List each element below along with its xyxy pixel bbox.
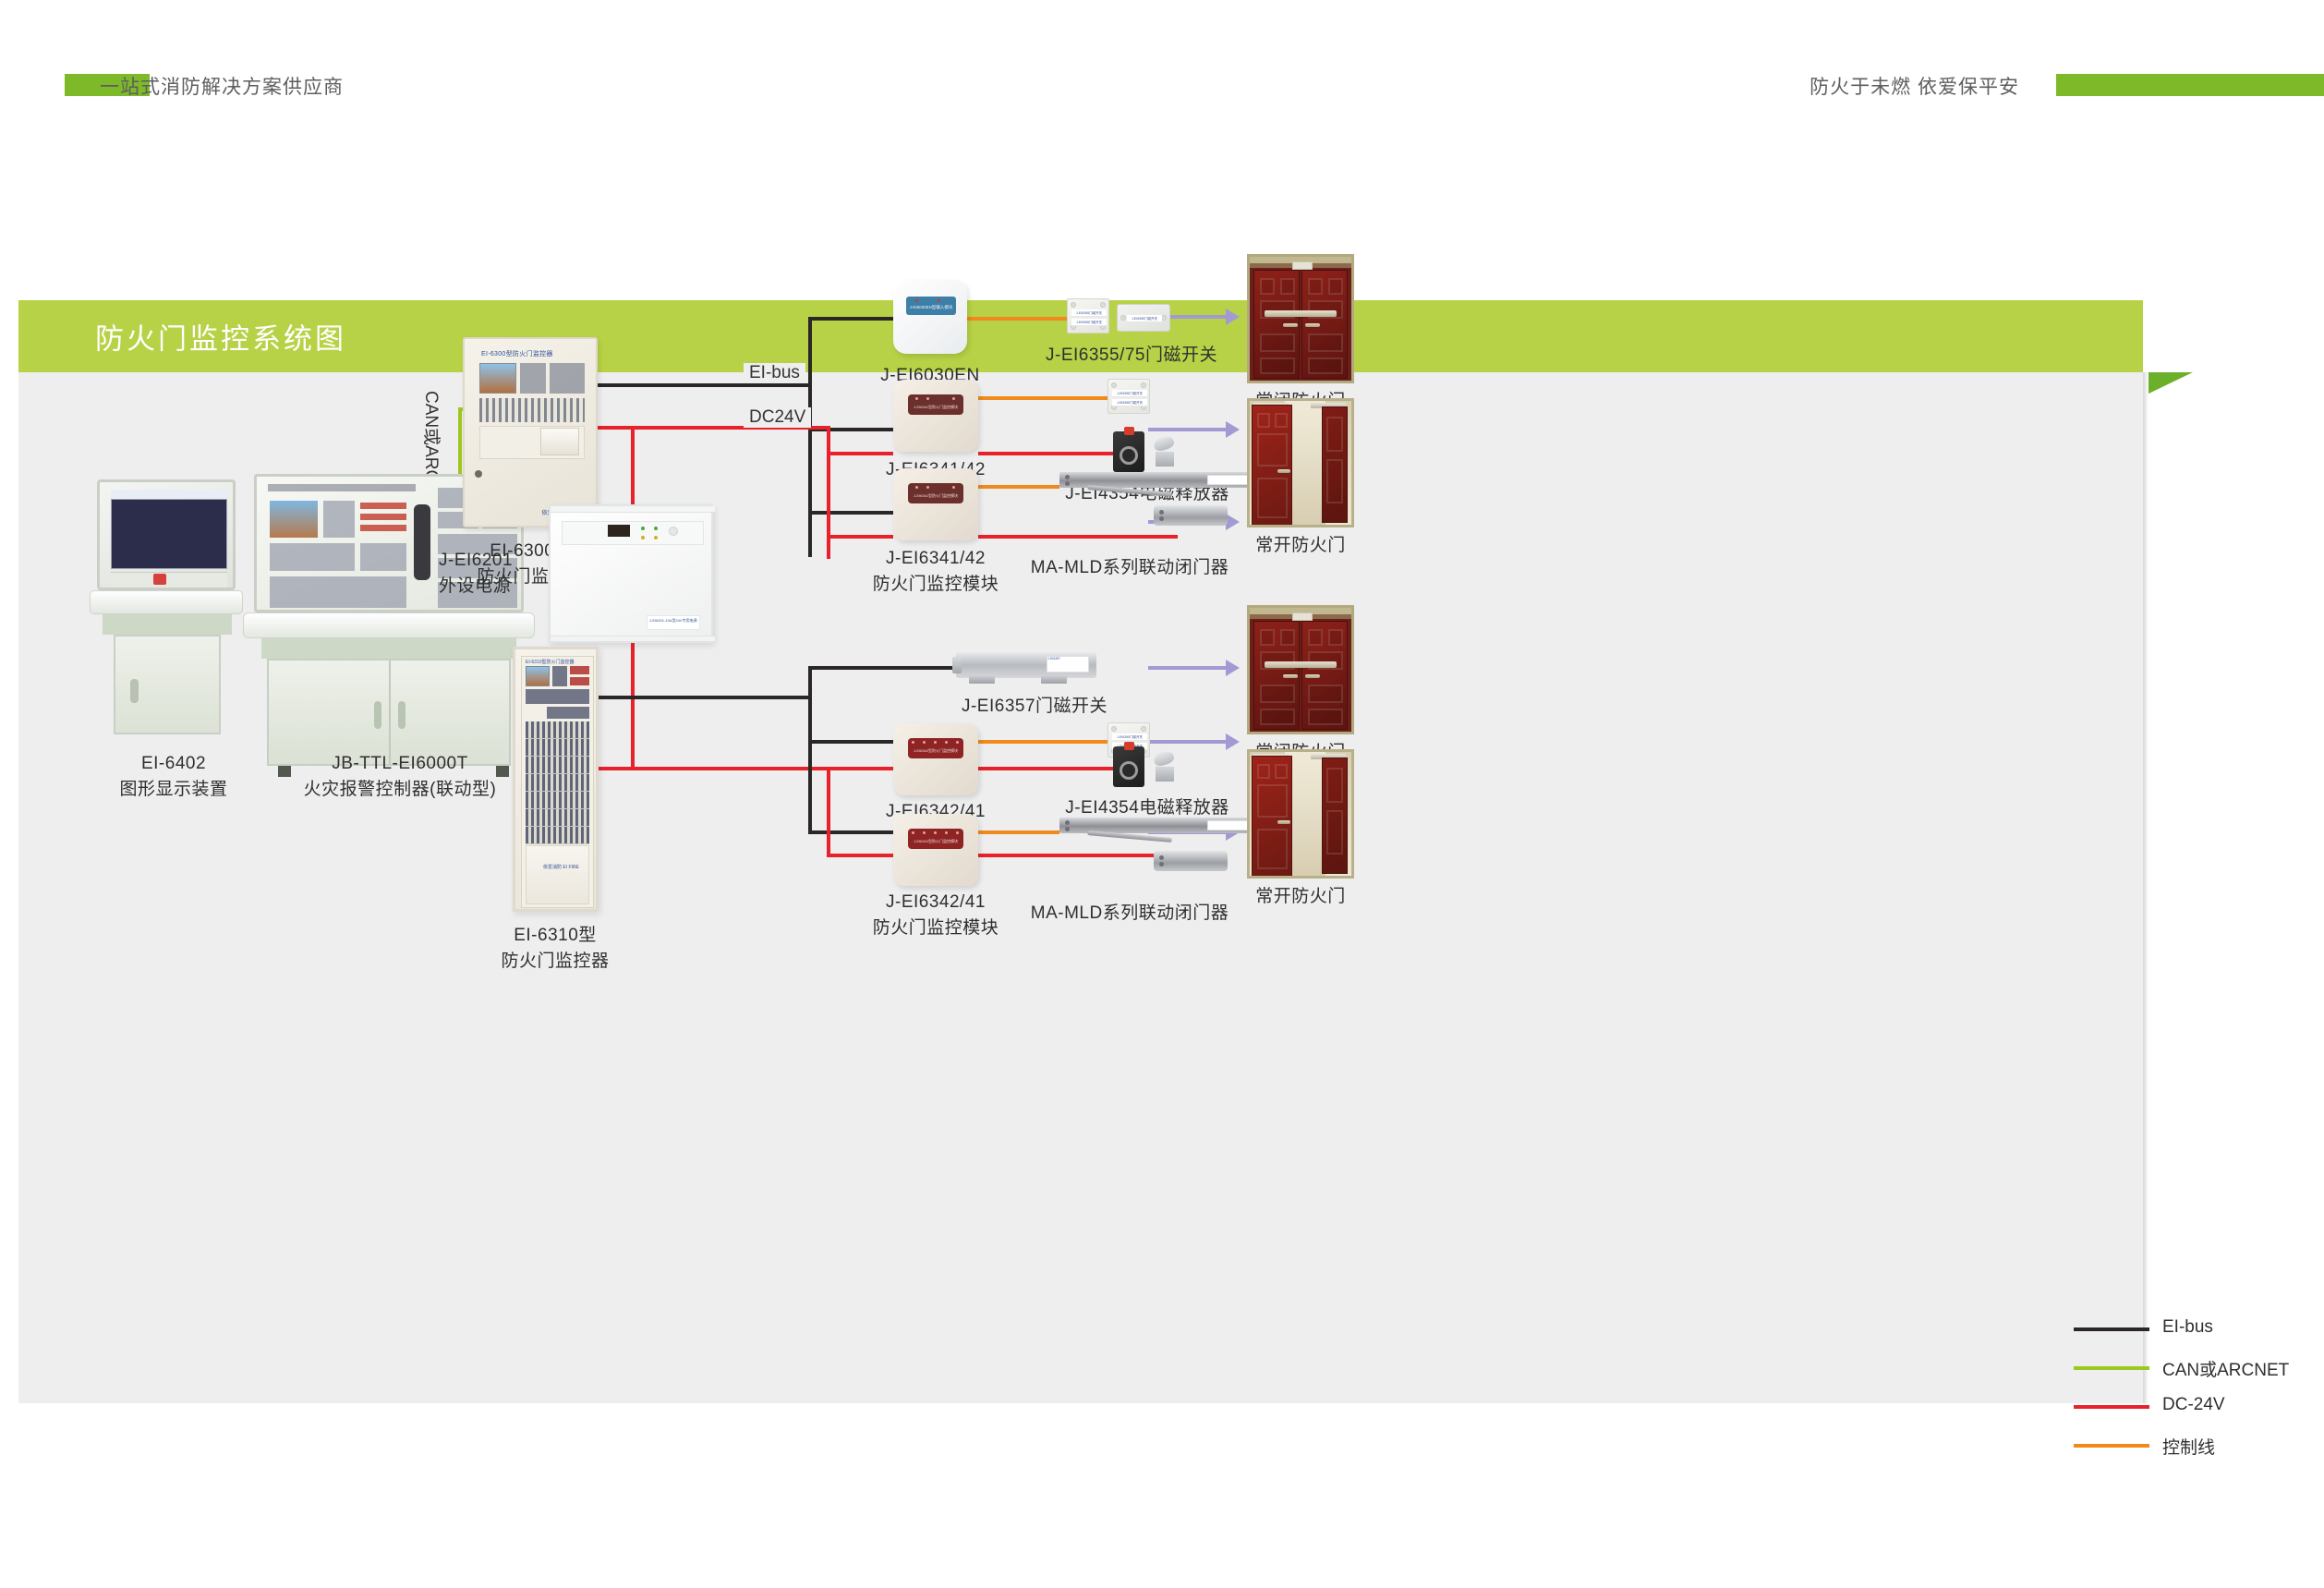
wire-eibus-to-6030: [808, 317, 893, 321]
workstation-monitor: [97, 479, 236, 590]
psu-led-3: [641, 536, 645, 539]
magnet-switch-6355-plate: J-EI6355门磁开关 J-EI6355门磁开关: [1067, 298, 1109, 333]
panel-6300-printer-slot: [540, 428, 579, 455]
wire-dc24v-to-release-top: [978, 452, 1113, 455]
closer-top-rail-hole-1: [1065, 475, 1070, 479]
console-lcd-screen: [270, 501, 318, 538]
wire-arrow-line-door-open-bottom: [1148, 740, 1226, 744]
diagram-edge-shadow: [2143, 372, 2148, 1403]
console-handset[interactable]: [414, 504, 430, 580]
door-panel: [1260, 685, 1295, 703]
release-bottom-magnet-face: [1120, 761, 1138, 780]
magnet-switch-6355-magnet: J-EI6355门磁开关: [1117, 304, 1170, 332]
magnet-switch-screw-tl: [1071, 302, 1076, 308]
device-ei6310-cabinet[interactable]: EI-6310型防火门监控器 依爱消防 EI FIRE: [513, 647, 599, 912]
system-diagram-canvas: EI-bus DC24V CAN或ARCNET EI-6402 图形显示装置: [18, 372, 2143, 1403]
module-6342-top-led-4: [945, 741, 948, 744]
closer-top-body-hole-1: [1159, 510, 1164, 515]
door-panel: [1257, 784, 1288, 818]
device-j-ei6357-door-switch[interactable]: J-EI6357: [956, 652, 1104, 689]
device-magnet-switch-top-field[interactable]: J-EI6355门磁开关 J-EI6355门磁开关: [1108, 379, 1150, 414]
door-panel: [1257, 764, 1270, 779]
magnet-switch-bottom-screw-tr: [1141, 726, 1146, 732]
caption-door-open-top-name: 常开防火门: [1255, 536, 1346, 555]
door-switch-6357-foot-left: [969, 676, 995, 684]
psu-nameplate: J-EI6201-10A型24V专用电源: [647, 615, 700, 630]
device-j-ei6342-41-bottom[interactable]: J-EI6342型防火门监控模块: [893, 814, 978, 886]
module-6342-bottom-led-4: [945, 831, 948, 834]
door-panel: [1326, 459, 1343, 503]
panel-6300-lcd: [479, 363, 516, 394]
console-button-block-2: [270, 543, 355, 571]
module-6341-bottom-led-fault: [952, 486, 955, 489]
device-ei6300-panel[interactable]: EI-6300型防火门监控器 依爱消防 EI FIRE: [463, 337, 598, 527]
closer-bottom-rail-hole-1: [1065, 820, 1070, 825]
caption-6342-bottom-name: 防火门监控模块: [866, 915, 1005, 941]
magnet-switch-bottom-label-1: J-EI6355门磁开关: [1112, 733, 1147, 741]
wire-control-6342top-to-magnet: [978, 740, 1108, 744]
device-j-ei6341-42-bottom[interactable]: J-EI6341型防火门监控模块: [893, 468, 978, 540]
wire-control-6342bot-to-closer: [978, 830, 1059, 834]
device-j-ei6341-42-top[interactable]: J-EI6341型防火门监控模块: [893, 380, 978, 452]
door-open-top-leaf-left: [1252, 405, 1292, 527]
console-desktop: [243, 612, 535, 638]
device-door-closed-top: [1247, 254, 1354, 383]
module-6342-bottom-body: J-EI6342型防火门监控模块: [893, 814, 978, 886]
cabinet-6310-door: [526, 845, 589, 904]
release-bottom-disc: [1152, 749, 1175, 768]
diagram-legend: EI-bus CAN或ARCNET DC-24V 控制线: [2074, 1310, 2314, 1465]
caption-6310-model: EI-6310型: [514, 926, 597, 945]
wire-dc24v-to-release-bottom: [978, 767, 1113, 770]
door-panel: [1260, 333, 1295, 352]
magnet-switch-top-label-2: J-EI6355门磁开关: [1112, 399, 1147, 406]
module-6342-top-led-3: [934, 741, 937, 744]
workstation-desktop: [90, 590, 243, 614]
module-6341-bottom-plate-text: J-EI6341型防火门监控模块: [909, 493, 962, 499]
psu-top-edge: [551, 506, 715, 513]
cabinet-6310-rack-6: [526, 809, 589, 827]
legend-item-can-arcnet: CAN或ARCNET: [2074, 1349, 2314, 1388]
page-title: 防火门监控系统图: [95, 316, 346, 358]
door-closed-bottom-handle-left: [1283, 674, 1298, 678]
door-switch-6357-cap-left: [952, 657, 962, 673]
wire-dc24v-to-6341-bottom: [827, 535, 893, 539]
door-panel: [1308, 629, 1323, 646]
wire-arrow-line-door-closed-bottom: [1148, 666, 1226, 670]
legend-label-ei-bus: EI-bus: [2162, 1317, 2213, 1338]
legend-swatch-ei-bus: [2074, 1327, 2149, 1331]
caption-6355-name: J-EI6355/75门磁开关: [1046, 345, 1217, 365]
panel-6300-lock[interactable]: [475, 470, 482, 478]
module-6030-body: J-EI6030EN型输入模块: [893, 280, 967, 354]
closer-bottom-body: [1154, 851, 1228, 871]
console-button-block-3: [360, 543, 406, 571]
legend-item-ei-bus: EI-bus: [2074, 1310, 2314, 1349]
wire-dc24v-to-6341-top: [827, 452, 893, 455]
module-6341-top-led-2: [926, 397, 929, 400]
caption-psu-model: J-EI6201: [439, 551, 513, 570]
closer-top-body-hole-2: [1159, 516, 1164, 521]
caption-j-ei6201: J-EI6201 外设电源: [439, 548, 587, 599]
module-6341-top-plate-text: J-EI6341型防火门监控模块: [909, 405, 962, 410]
wire-eibus-to-6341-bottom: [808, 511, 893, 515]
door-closed-top-handle-left: [1283, 323, 1298, 327]
door-panel: [1260, 278, 1275, 295]
closer-bottom-body-hole-2: [1159, 862, 1164, 867]
cabinet-6310-status-2: [570, 677, 589, 685]
banner-fold-decoration: [2143, 372, 2193, 396]
module-6342-top-led-2: [923, 741, 926, 744]
release-bottom-button[interactable]: [1124, 742, 1134, 750]
psu-knob[interactable]: [669, 527, 678, 536]
door-open-top-leaf-right: [1322, 406, 1348, 523]
wire-control-6341top-to-magnet: [978, 396, 1108, 400]
module-6342-bottom-led-1: [912, 831, 914, 834]
module-6342-top-plate-text: J-EI6342型防火门监控模块: [909, 748, 962, 754]
wire-dc24v-main-vertical: [631, 426, 635, 507]
release-bottom-armature: [1152, 752, 1176, 783]
door-closed-top-handle-right: [1305, 323, 1320, 327]
release-top-magnet-body: [1113, 431, 1144, 472]
header-slogan: 防火于未燃 依爱保平安: [1810, 72, 2019, 100]
closer-top-rail-label: [1207, 475, 1250, 485]
console-status-bar-3: [360, 525, 406, 531]
module-6342-top-body: J-EI6342型防火门监控模块: [893, 723, 978, 795]
console-status-bar-1: [360, 503, 406, 509]
caption-6341-bottom-name: 防火门监控模块: [866, 572, 1005, 598]
caption-j-ei6355-75: J-EI6355/75门磁开关: [1021, 343, 1242, 369]
wire-eibus-lower-trunk: [808, 696, 812, 834]
door-open-top-handle: [1277, 469, 1290, 473]
workstation-cabinet-handle: [130, 679, 139, 703]
caption-4354-bottom-name: J-EI4354电磁释放器: [1065, 798, 1229, 818]
device-j-ei6342-41-top[interactable]: J-EI6342型防火门监控模块: [893, 723, 978, 795]
module-6341-bottom-led-2: [926, 486, 929, 489]
cabinet-6310-printer: [547, 707, 589, 719]
module-6030-led-fault: [938, 299, 940, 302]
door-switch-6357-foot-right: [1041, 676, 1067, 684]
release-bottom-bracket: [1156, 767, 1174, 782]
cabinet-6310-lcd: [526, 666, 550, 686]
door-panel: [1308, 278, 1323, 295]
release-top-button[interactable]: [1124, 427, 1134, 435]
door-panel: [1328, 278, 1343, 295]
wire-dc24v-to-6342-top: [827, 767, 893, 770]
caption-closer-top-name: MA-MLD系列联动闭门器: [1031, 558, 1229, 577]
door-panel: [1257, 433, 1288, 467]
door-open-bottom-handle: [1277, 820, 1290, 824]
module-6030-led-active: [915, 299, 918, 302]
caption-door-open-top: 常开防火门: [1236, 533, 1365, 559]
door-closed-bottom-sensor: [1292, 612, 1313, 621]
workstation-screen-header: [111, 490, 227, 498]
door-panel: [1326, 768, 1343, 803]
door-panel: [1260, 358, 1295, 374]
module-6341-top-led-1: [915, 397, 918, 400]
wire-eibus-to-6342-bottom: [808, 830, 893, 834]
label-ei-bus: EI-bus: [744, 363, 805, 383]
door-panel: [1280, 278, 1295, 295]
console-cabinet-handle-right: [398, 701, 405, 729]
door-switch-6357-body: J-EI6357: [956, 652, 1096, 678]
door-panel: [1308, 709, 1343, 725]
cabinet-6310-keys: [552, 666, 567, 686]
caption-ei6402-model: EI-6402: [141, 754, 206, 773]
legend-label-can-arcnet: CAN或ARCNET: [2162, 1356, 2289, 1381]
panel-6300-keys-right: [550, 363, 585, 394]
wire-eibus-to-6357: [808, 666, 956, 670]
console-button-block-4: [270, 576, 406, 608]
door-panel: [1326, 810, 1343, 855]
console-panel-title: [268, 484, 416, 491]
wire-eibus-top-trunk: [808, 317, 812, 557]
door-panel: [1260, 709, 1295, 725]
caption-jb-ttl-ei6000t: JB-TTL-EI6000T 火灾报警控制器(联动型): [280, 751, 520, 802]
door-closed-bottom-pushbar: [1265, 661, 1337, 668]
psu-indicator-strip: [562, 521, 704, 545]
magnet-switch-label-1: J-EI6355门磁开关: [1071, 309, 1107, 317]
device-j-ei6355-75-magnet-switch[interactable]: J-EI6355门磁开关 J-EI6355门磁开关 J-EI6355门磁开关: [1067, 298, 1187, 337]
caption-ma-mld-top: MA-MLD系列联动闭门器: [1000, 555, 1259, 581]
header-green-bar-right: [2056, 74, 2324, 96]
door-panel: [1257, 413, 1270, 428]
wire-eibus-6300-out: [598, 383, 812, 387]
wire-dc24v-lower-out: [598, 767, 830, 770]
device-door-open-top: [1247, 398, 1354, 527]
psu-led-4: [654, 536, 658, 539]
caption-psu-name: 外设电源: [439, 574, 587, 600]
caption-ei6310: EI-6310型 防火门监控器: [477, 923, 634, 974]
caption-ei6402-name: 图形显示装置: [72, 777, 275, 803]
panel-6300-keys-mid: [520, 363, 546, 394]
magnet-switch-bottom-screw-tl: [1111, 726, 1117, 732]
module-6342-top-led-1: [912, 741, 914, 744]
magnet-screw-l: [1120, 315, 1126, 321]
caption-door-open-bottom-name: 常开防火门: [1255, 887, 1346, 906]
magnet-label: J-EI6355门磁开关: [1127, 315, 1162, 322]
caption-6341-bottom-model: J-EI6341/42: [886, 549, 986, 568]
module-6342-bottom-led-2: [923, 831, 926, 834]
legend-label-dc24v: DC-24V: [2162, 1395, 2225, 1415]
wire-dc24v-to-6342-bottom: [827, 854, 893, 857]
legend-swatch-control: [2074, 1444, 2149, 1448]
legend-swatch-can-arcnet: [2074, 1366, 2149, 1370]
cabinet-6310-rack-4: [526, 774, 589, 792]
module-6342-bottom-plate-text: J-EI6342型防火门监控模块: [909, 839, 962, 844]
workstation-buttons: [111, 572, 227, 588]
wire-dc24v-lower-vertical: [827, 767, 830, 857]
module-6341-top-led-fault: [952, 397, 955, 400]
cabinet-6310-logo: 依爱消防 EI FIRE: [543, 864, 579, 870]
cabinet-6310-body: EI-6310型防火门监控器 依爱消防 EI FIRE: [513, 647, 599, 912]
wire-eibus-to-6342-top: [808, 740, 893, 744]
caption-6342-bottom-model: J-EI6342/41: [886, 892, 986, 912]
cabinet-6310-rack-5: [526, 792, 589, 809]
door-panel: [1308, 685, 1343, 703]
caption-j-ei6341-42-bottom: J-EI6341/42 防火门监控模块: [866, 546, 1005, 597]
console-status-bar-2: [360, 514, 406, 520]
magnet-switch-screw-tr: [1100, 302, 1106, 308]
door-closed-top-sensor: [1292, 261, 1313, 270]
wire-eibus-6310-out: [598, 696, 812, 699]
module-6341-top-body: J-EI6341型防火门监控模块: [893, 380, 978, 452]
device-ma-mld-closer-bottom[interactable]: [1059, 818, 1272, 891]
cabinet-6310-rack-3: [526, 757, 589, 774]
door-closed-bottom-handle-right: [1305, 674, 1320, 678]
arrow-door-closed-bottom: [1226, 660, 1240, 676]
legend-label-control: 控制线: [2162, 1434, 2215, 1459]
cabinet-6310-status-1: [570, 666, 589, 674]
door-panel: [1328, 629, 1343, 646]
label-dc24v: DC24V: [744, 407, 811, 428]
caption-j-ei6357: J-EI6357门磁开关: [942, 694, 1127, 720]
workstation-alarm-indicator: [153, 574, 166, 585]
door-panel: [1275, 413, 1288, 428]
closer-top-rail-hole-2: [1065, 481, 1070, 486]
module-6342-bottom-led-3: [934, 831, 937, 834]
psu-digital-display: [608, 525, 630, 537]
door-panel: [1308, 333, 1343, 352]
module-6030-plate-text: J-EI6030EN型输入模块: [907, 305, 955, 310]
page-header: 一站式消防解决方案供应商 防火于未燃 依爱保平安: [0, 0, 2324, 120]
legend-item-dc24v: DC-24V: [2074, 1388, 2314, 1426]
cabinet-6310-rack-7: [526, 827, 589, 844]
device-j-ei6030en-module[interactable]: J-EI6030EN型输入模块: [893, 280, 967, 354]
caption-6310-name: 防火门监控器: [477, 949, 634, 975]
magnet-switch-top-screw-tr: [1141, 382, 1146, 388]
wire-control-6030-to-magnet: [967, 317, 1067, 321]
closer-top-body: [1154, 505, 1228, 526]
door-switch-6357-label: J-EI6357: [1047, 656, 1089, 673]
caption-ma-mld-bottom: MA-MLD系列联动闭门器: [1000, 901, 1259, 927]
device-door-closed-bottom: [1247, 605, 1354, 734]
cabinet-6310-title: EI-6310型防火门监控器: [526, 659, 575, 665]
release-top-magnet-face: [1120, 446, 1138, 465]
device-door-open-bottom: [1247, 749, 1354, 879]
psu-led-1: [641, 527, 645, 530]
door-panel: [1308, 358, 1343, 374]
caption-closer-bottom-name: MA-MLD系列联动闭门器: [1031, 903, 1229, 923]
module-6342-top-led-fault: [956, 741, 959, 744]
cabinet-6310-rack-1: [526, 721, 589, 739]
caption-door-open-bottom: 常开防火门: [1236, 884, 1365, 910]
release-bottom-magnet-body: [1113, 746, 1144, 787]
console-cabinet-divider: [389, 661, 391, 764]
caption-6357-name: J-EI6357门磁开关: [962, 697, 1108, 716]
caption-console-model: JB-TTL-EI6000T: [332, 754, 467, 773]
caption-console-name: 火灾报警控制器(联动型): [280, 777, 520, 803]
door-panel: [1260, 629, 1275, 646]
device-j-ei4354-release-bottom[interactable]: [1113, 745, 1185, 789]
closer-bottom-rail-hole-2: [1065, 827, 1070, 831]
release-top-bracket: [1156, 452, 1174, 467]
magnet-switch-top-screw-tl: [1111, 382, 1117, 388]
door-panel: [1257, 478, 1288, 518]
panel-6300-indicator-strip: [479, 398, 585, 422]
release-top-disc: [1152, 434, 1175, 453]
workstation-apron: [103, 614, 232, 635]
panel-6300-body: EI-6300型防火门监控器 依爱消防 EI FIRE: [463, 337, 598, 527]
closer-bottom-rail-label: [1207, 820, 1250, 830]
wire-eibus-6357-branch: [808, 666, 812, 699]
wire-dc24v-top-trunk: [827, 426, 830, 559]
door-open-bottom-leaf-left: [1252, 756, 1292, 878]
closer-bottom-body-hole-1: [1159, 855, 1164, 860]
module-6341-bottom-body: J-EI6341型防火门监控模块: [893, 468, 978, 540]
magnet-switch-label-2: J-EI6355门磁开关: [1071, 319, 1107, 326]
psu-led-2: [654, 527, 658, 530]
arrow-door-closed-top: [1226, 309, 1240, 325]
door-panel: [1275, 764, 1288, 779]
door-closed-top-pushbar: [1265, 310, 1337, 317]
cabinet-6310-keypad: [526, 689, 589, 704]
legend-swatch-dc24v: [2074, 1405, 2149, 1409]
cabinet-6310-rack-2: [526, 739, 589, 757]
arrow-door-open-top: [1226, 421, 1240, 438]
legend-item-control: 控制线: [2074, 1426, 2314, 1465]
workstation-screen: [111, 499, 227, 569]
psu-bottom-edge: [551, 636, 715, 641]
header-tagline: 一站式消防解决方案供应商: [100, 72, 344, 100]
door-open-bottom-leaf-right: [1322, 758, 1348, 874]
console-apron: [261, 638, 516, 659]
console-button-block-1: [323, 501, 355, 538]
magnet-switch-top-label-1: J-EI6355门磁开关: [1112, 390, 1147, 397]
door-panel: [1326, 417, 1343, 452]
device-ei6402-workstation[interactable]: [97, 479, 250, 738]
device-j-ei4354-release-top[interactable]: [1113, 430, 1185, 474]
module-6341-bottom-led-1: [915, 486, 918, 489]
door-panel: [1257, 829, 1288, 869]
release-top-armature: [1152, 437, 1176, 468]
caption-ei6402: EI-6402 图形显示装置: [72, 751, 275, 802]
magnet-switch-top-field-plate: J-EI6355门磁开关 J-EI6355门磁开关: [1108, 379, 1150, 414]
door-panel: [1280, 629, 1295, 646]
module-6342-bottom-led-fault: [956, 831, 959, 834]
console-cabinet-handle-left: [374, 701, 381, 729]
caption-j-ei6342-41-bottom: J-EI6342/41 防火门监控模块: [866, 890, 1005, 940]
panel-6300-title: EI-6300型防火门监控器: [481, 349, 553, 358]
